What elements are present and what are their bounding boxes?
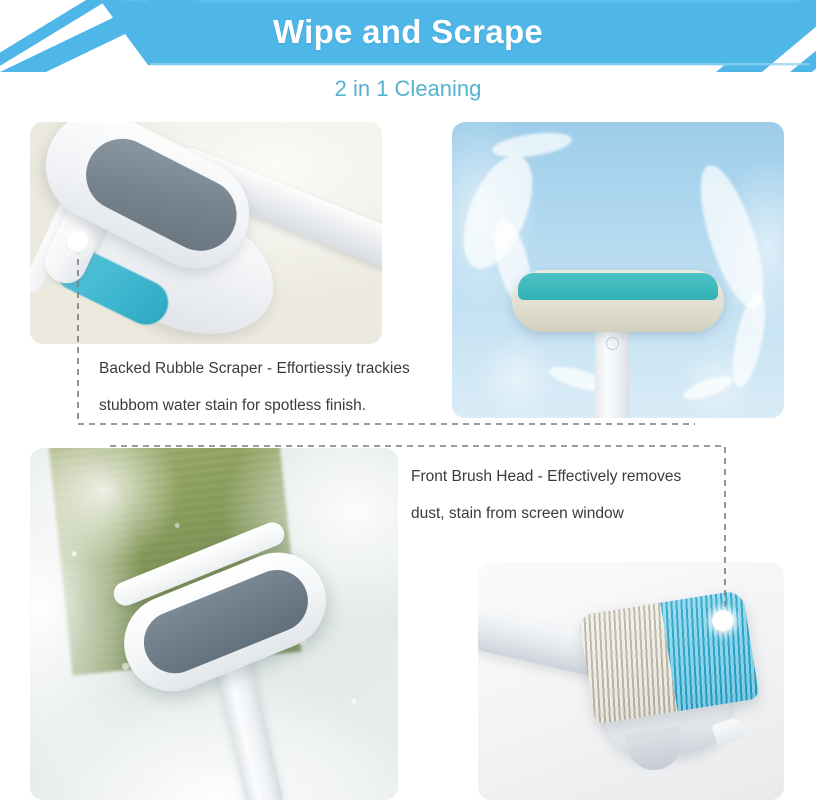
soapy-window-photo	[30, 448, 398, 800]
caption-brush-line1: Front Brush Head - Effectively removes	[411, 458, 681, 495]
blue-bristles	[660, 590, 759, 712]
page-title: Wipe and Scrape	[0, 10, 816, 54]
infographic-page: Wipe and Scrape 2 in 1 Cleaning	[0, 0, 816, 800]
caption-scraper: Backed Rubble Scraper - Effortiessiy tra…	[99, 350, 410, 424]
squeegee-head-shape	[512, 270, 724, 332]
callout-dot-brush	[712, 610, 734, 632]
header-banner: Wipe and Scrape	[0, 0, 816, 72]
teal-microfiber-pad-shape	[518, 273, 718, 300]
caption-brush: Front Brush Head - Effectively removes d…	[411, 458, 681, 532]
brush-head-closeup-photo	[478, 562, 784, 800]
page-subtitle: 2 in 1 Cleaning	[0, 74, 816, 104]
squeegee-on-glass-photo	[452, 122, 784, 418]
callout-dot-scraper	[67, 231, 89, 253]
caption-brush-line2: dust, stain from screen window	[411, 495, 681, 532]
caption-scraper-line2: stubbom water stain for spotless finish.	[99, 387, 410, 424]
release-button-shape	[606, 337, 619, 350]
caption-scraper-line1: Backed Rubble Scraper - Effortiessiy tra…	[99, 350, 410, 387]
squeegee-pole-shape	[595, 328, 629, 418]
